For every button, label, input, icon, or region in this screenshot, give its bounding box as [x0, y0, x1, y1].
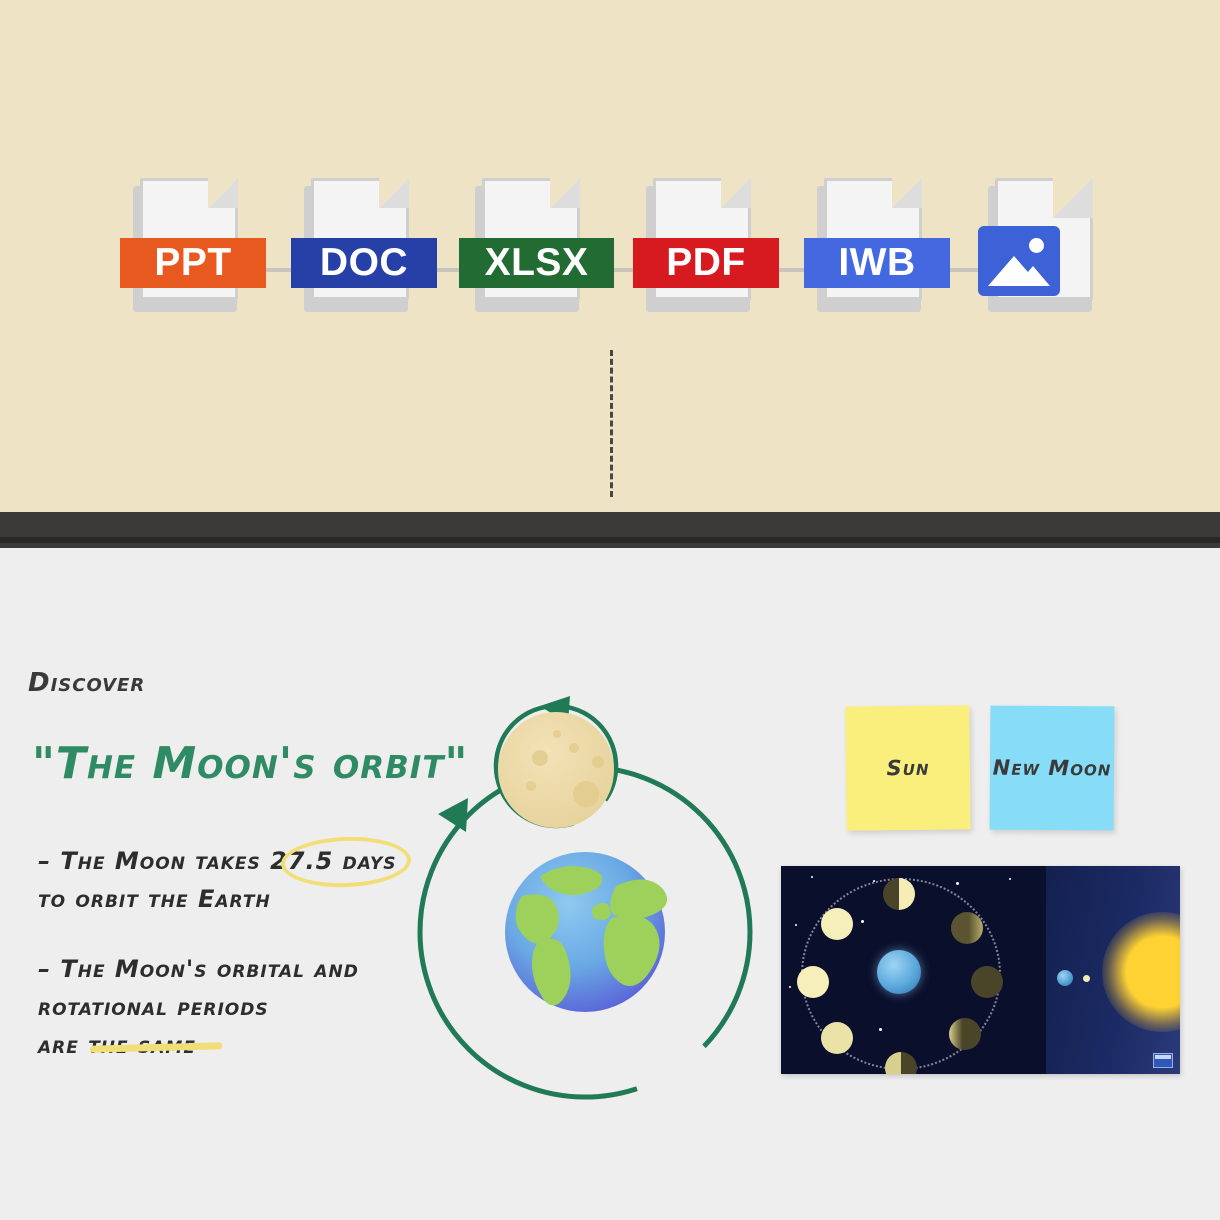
video-watermark-logo-icon [1153, 1053, 1173, 1068]
file-doc-icon[interactable]: DOC [294, 178, 417, 318]
file-iwb-icon[interactable]: IWB [807, 178, 930, 318]
page-fold-edge [550, 178, 580, 208]
page-fold-edge [721, 178, 751, 208]
star-icon [811, 876, 813, 878]
moon-phase-icon [951, 912, 983, 944]
file-xlsx-icon[interactable]: XLSX [465, 178, 588, 318]
moon-phase-icon [883, 878, 915, 910]
file-label-pdf: PDF [633, 238, 779, 288]
bullet-2-line-2: rotational periods [38, 988, 438, 1026]
picture-mountain-small-icon [1016, 266, 1050, 286]
star-icon [956, 882, 959, 885]
moon-phase-icon [949, 1018, 981, 1050]
file-image-icon[interactable] [978, 178, 1101, 318]
sticky-note-sun[interactable]: Sun [845, 705, 970, 830]
moon-phase-icon [797, 966, 829, 998]
file-pdf-icon[interactable]: PDF [636, 178, 759, 318]
bullet-2-line-1: – The Moon's orbital and [38, 950, 438, 988]
moon-orbit-diagram [390, 690, 780, 1130]
page-fold-edge [379, 178, 409, 208]
star-icon [795, 924, 797, 926]
picture-sun-dot-icon [1029, 238, 1044, 253]
earth-body [505, 852, 667, 1012]
bullet-1-line-2: to orbit the Earth [38, 880, 438, 918]
star-icon [1009, 878, 1011, 880]
sun-icon [1102, 912, 1180, 1032]
file-label-iwb: IWB [804, 238, 950, 288]
file-ppt-icon[interactable]: PPT [123, 178, 246, 318]
moon-phase-icon [821, 908, 853, 940]
orbit-arrow-large [438, 798, 468, 832]
file-format-row: PPT DOC XLSX [0, 178, 1220, 323]
moon-phase-icon [821, 1022, 853, 1054]
file-formats-panel: PPT DOC XLSX [0, 0, 1220, 512]
moon-phases-video-thumbnail[interactable] [781, 866, 1180, 1074]
lesson-slide-page: PPT DOC XLSX [0, 0, 1220, 1220]
page-fold-edge [208, 178, 238, 208]
dashed-drop-line [610, 350, 613, 497]
sticky-note-new-moon[interactable]: New Moon [990, 706, 1115, 831]
page-fold-edge [892, 178, 922, 208]
picture-glyph-icon [978, 226, 1060, 296]
sticky-note-sun-text: Sun [886, 752, 929, 784]
moon-body [498, 712, 614, 828]
page-fold-edge [1053, 178, 1093, 218]
moon-small-icon [1083, 975, 1090, 982]
file-label-ppt: PPT [120, 238, 266, 288]
file-label-xlsx: XLSX [459, 238, 614, 288]
sticky-note-new-moon-text: New Moon [993, 752, 1112, 785]
earth-icon [877, 950, 921, 994]
moon-phase-icon [971, 966, 1003, 998]
page-kicker: Discover [28, 668, 145, 698]
earth-small-icon [1057, 970, 1073, 986]
star-icon [789, 986, 791, 988]
file-label-doc: DOC [291, 238, 437, 288]
